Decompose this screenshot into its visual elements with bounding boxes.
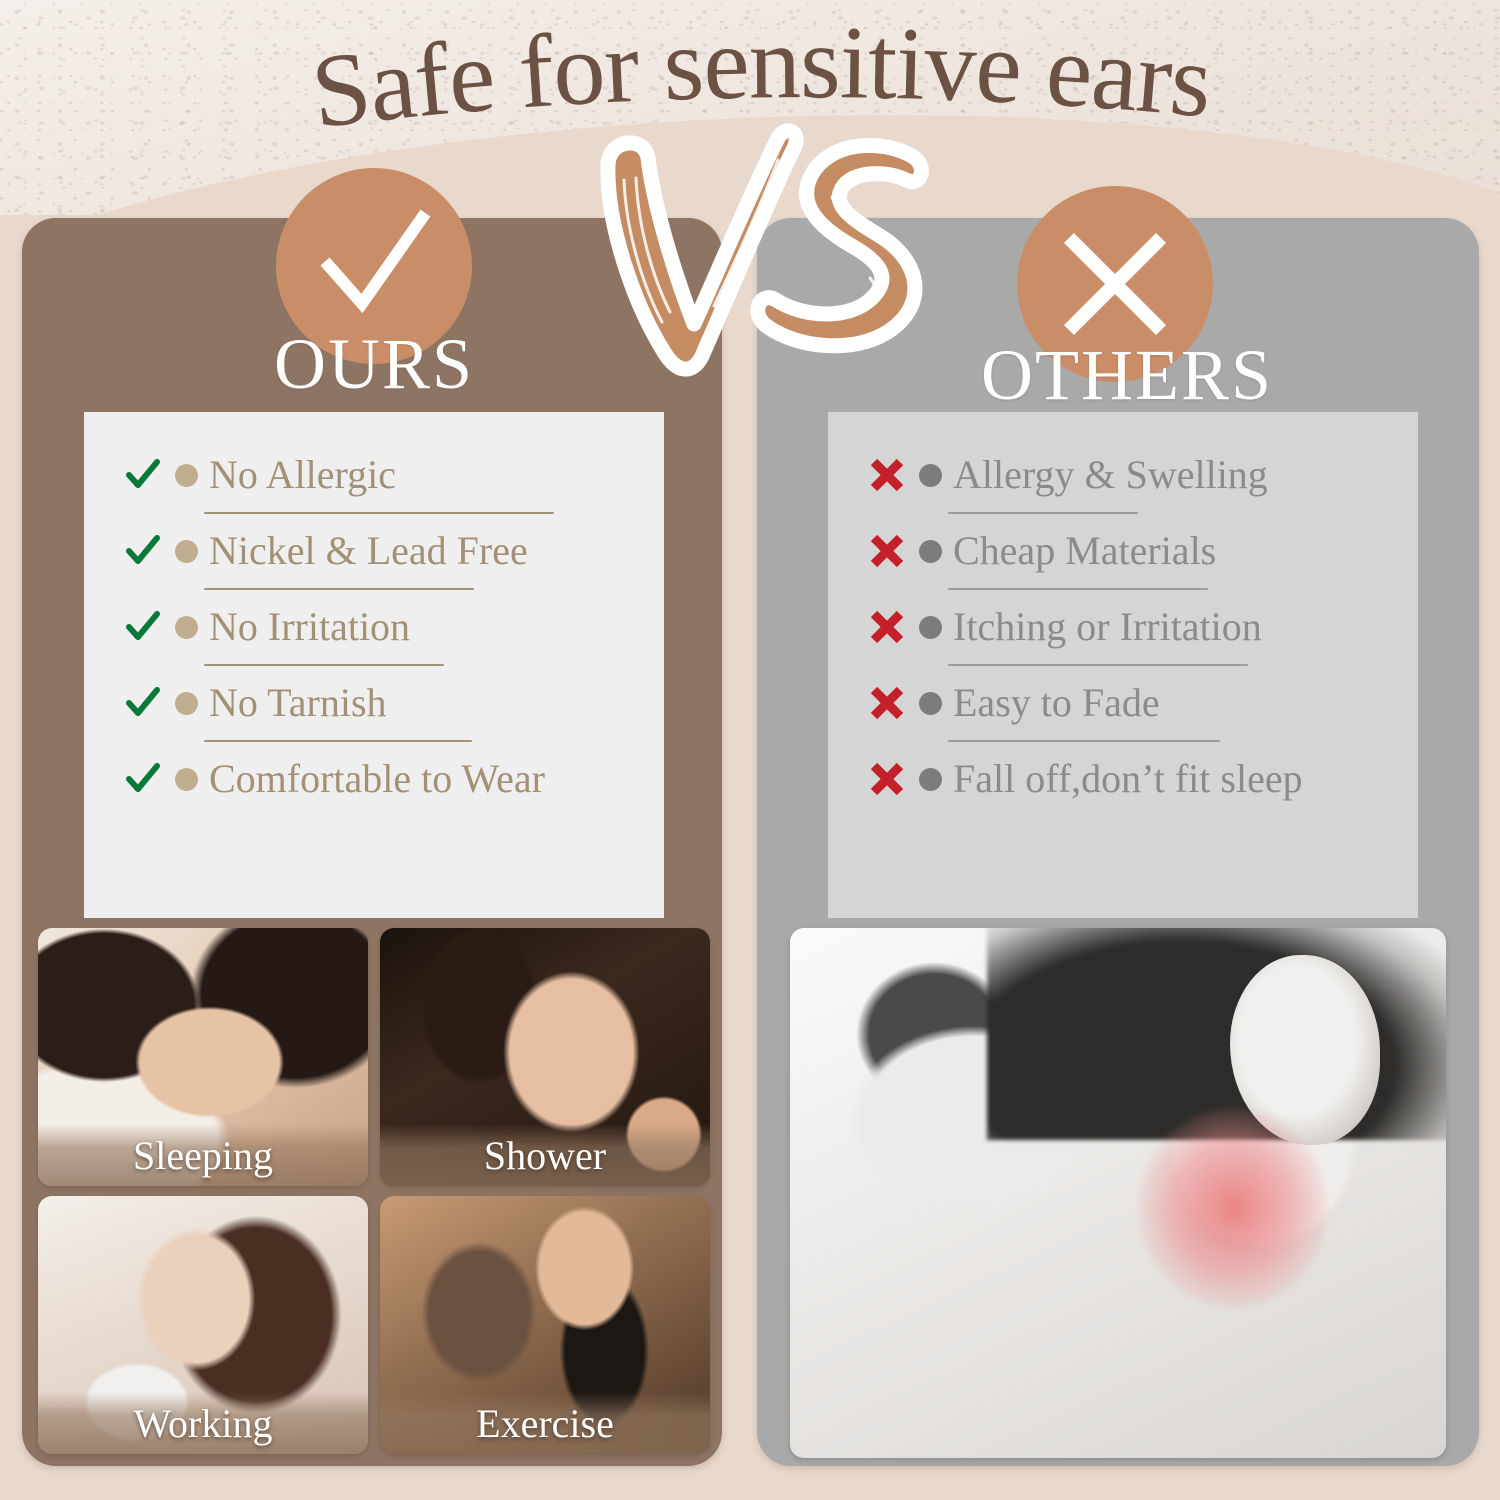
bullet-dot: [919, 540, 942, 563]
list-item[interactable]: Fall off,don’t fit sleep: [828, 742, 1418, 816]
ours-feature-card: No Allergic Nickel & Lead Free No Irrita…: [84, 412, 664, 918]
ear-pain-photo[interactable]: [790, 928, 1446, 1458]
bullet-dot: [919, 616, 942, 639]
gallery-caption: Sleeping: [133, 1132, 273, 1179]
others-feature-list: Allergy & Swelling Cheap Materials Itchi…: [828, 412, 1418, 816]
list-item-label: No Allergic: [209, 455, 396, 495]
gallery-tile-shower[interactable]: Shower: [380, 928, 710, 1186]
cross-icon: [1051, 220, 1179, 348]
ours-feature-list: No Allergic Nickel & Lead Free No Irrita…: [84, 412, 664, 816]
others-label: OTHERS: [977, 334, 1277, 417]
list-item[interactable]: Nickel & Lead Free: [84, 514, 664, 588]
list-item[interactable]: Easy to Fade: [828, 666, 1418, 740]
cross-icon: [864, 610, 910, 644]
list-item-label: No Irritation: [209, 607, 410, 647]
pain-highlight: [1138, 1108, 1328, 1308]
check-icon: [120, 610, 166, 644]
infographic-canvas: Safe for sensitive ears OURS OTHERS: [0, 0, 1500, 1500]
cross-icon: [864, 762, 910, 796]
list-item[interactable]: No Allergic: [84, 438, 664, 512]
list-item-label: Fall off,don’t fit sleep: [953, 759, 1303, 799]
gallery-caption: Working: [134, 1400, 273, 1447]
list-item-label: Itching or Irritation: [953, 607, 1262, 647]
gallery-caption: Shower: [484, 1132, 606, 1179]
gallery-tile-exercise[interactable]: Exercise: [380, 1196, 710, 1454]
caption-band: Exercise: [380, 1392, 710, 1454]
ours-label: OURS: [269, 323, 479, 406]
versus-badge: [580, 128, 940, 396]
list-item-label: Cheap Materials: [953, 531, 1216, 571]
bullet-dot: [175, 616, 198, 639]
others-feature-card: Allergy & Swelling Cheap Materials Itchi…: [828, 412, 1418, 918]
check-icon: [120, 458, 166, 492]
list-item[interactable]: Cheap Materials: [828, 514, 1418, 588]
gallery-tile-sleeping[interactable]: Sleeping: [38, 928, 368, 1186]
bullet-dot: [919, 464, 942, 487]
gallery-tile-working[interactable]: Working: [38, 1196, 368, 1454]
check-icon: [120, 686, 166, 720]
list-item[interactable]: No Irritation: [84, 590, 664, 664]
caption-band: Sleeping: [38, 1124, 368, 1186]
list-item-label: Allergy & Swelling: [953, 455, 1268, 495]
check-icon: [120, 534, 166, 568]
bullet-dot: [175, 768, 198, 791]
usage-scenario-gallery: Sleeping Shower Working Exercise: [38, 928, 710, 1458]
cross-icon: [864, 458, 910, 492]
bullet-dot: [175, 692, 198, 715]
list-item[interactable]: Comfortable to Wear: [84, 742, 664, 816]
cross-icon: [864, 686, 910, 720]
caption-band: Working: [38, 1392, 368, 1454]
list-item[interactable]: No Tarnish: [84, 666, 664, 740]
list-item-label: Nickel & Lead Free: [209, 531, 528, 571]
list-item-label: Comfortable to Wear: [209, 759, 545, 799]
list-item-label: No Tarnish: [209, 683, 387, 723]
list-item[interactable]: Itching or Irritation: [828, 590, 1418, 664]
bullet-dot: [175, 464, 198, 487]
check-icon: [120, 762, 166, 796]
cross-icon: [864, 534, 910, 568]
bullet-dot: [919, 692, 942, 715]
list-item-label: Easy to Fade: [953, 683, 1160, 723]
list-item[interactable]: Allergy & Swelling: [828, 438, 1418, 512]
bullet-dot: [175, 540, 198, 563]
caption-band: Shower: [380, 1124, 710, 1186]
gallery-caption: Exercise: [476, 1400, 614, 1447]
check-icon: [299, 191, 449, 341]
vs-brush-glyph: [608, 131, 922, 369]
bullet-dot: [919, 768, 942, 791]
